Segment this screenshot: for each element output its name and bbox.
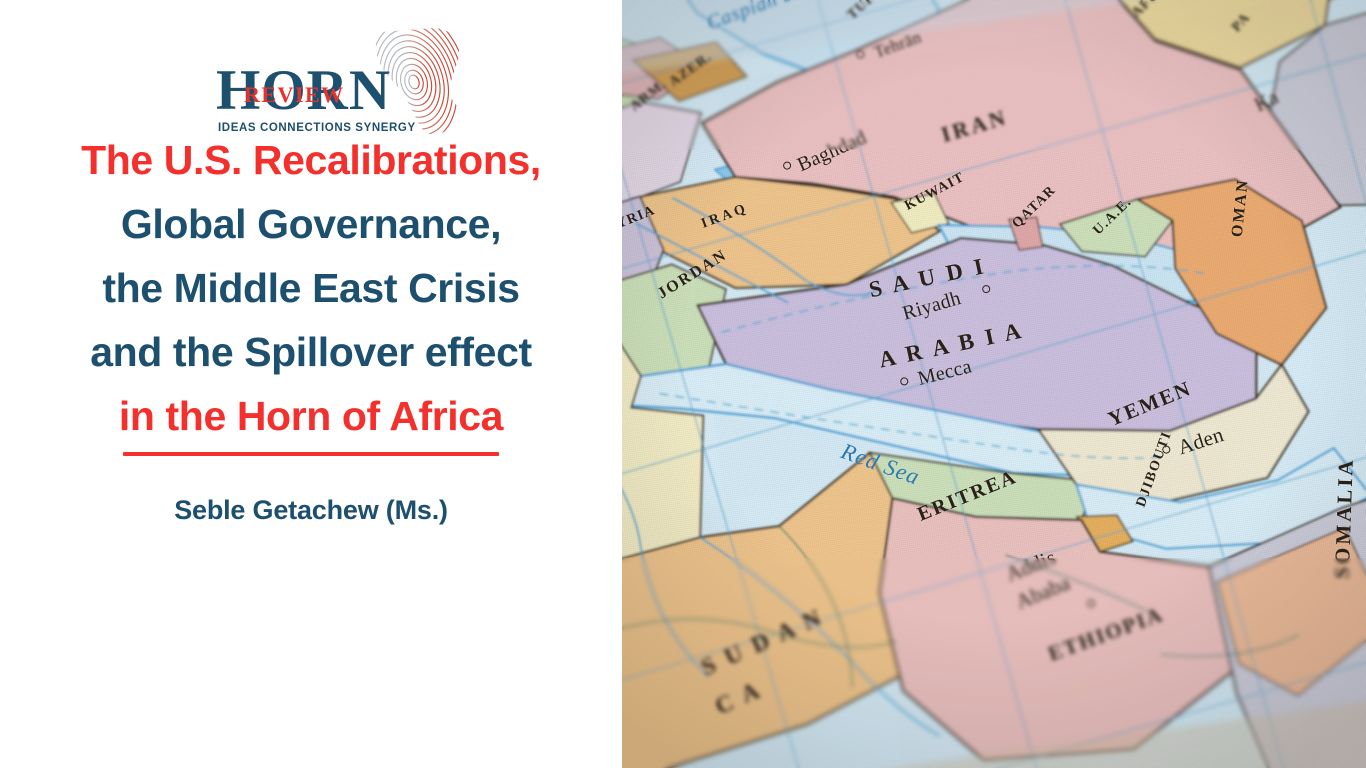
horn-review-logo[interactable]: HORN REVIEW IDEAS CONNECTIONS SYNERGY [216,26,486,138]
middle-east-horn-of-africa-map-photo: Caspian Sea Red Sea GEO. ARM. AZER. TURK… [622,0,1366,768]
logo-review-text: REVIEW [244,82,345,108]
title-panel: HORN REVIEW IDEAS CONNECTIONS SYNERGY Th… [0,0,622,768]
headline-line-4: and the Spillover effect [0,320,622,384]
headline-line-2: Global Governance, [0,192,622,256]
article-banner: HORN REVIEW IDEAS CONNECTIONS SYNERGY Th… [0,0,1366,768]
author-byline: Seble Getachew (Ms.) [0,492,622,528]
logo-wordmark: HORN REVIEW IDEAS CONNECTIONS SYNERGY [216,64,416,138]
headline-line-1: The U.S. Recalibrations, [0,128,622,192]
headline-line-3: the Middle East Crisis [0,256,622,320]
map-image: Caspian Sea Red Sea GEO. ARM. AZER. TURK… [622,0,1366,768]
headline-line-5: in the Horn of Africa [119,384,503,450]
headline: The U.S. Recalibrations, Global Governan… [0,128,622,450]
